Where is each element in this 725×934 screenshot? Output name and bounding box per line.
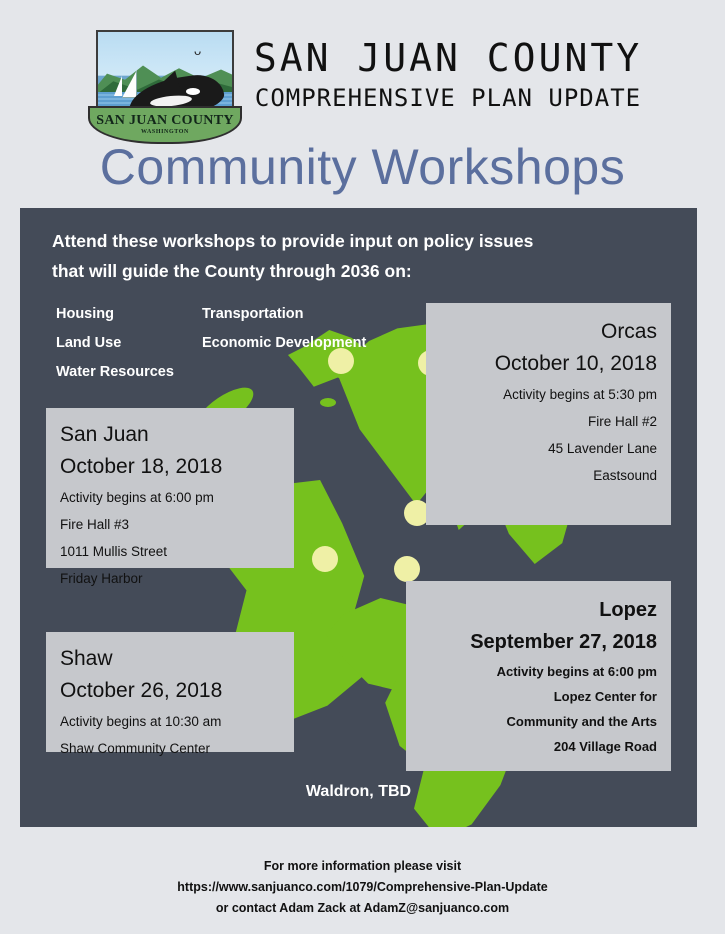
event-detail-time: Activity begins at 5:30 pm [440, 381, 657, 408]
event-detail-address: 204 Village Road [420, 734, 657, 759]
event-date-label: October 10, 2018 [440, 347, 657, 381]
event-date-label: October 18, 2018 [60, 450, 280, 484]
event-detail-venue: Fire Hall #3 [60, 511, 280, 538]
content-panel: Attend these workshops to provide input … [20, 208, 697, 827]
topic-land-use: Land Use [56, 329, 174, 358]
intro-line-1: Attend these workshops to provide input … [52, 226, 662, 256]
seal-banner-main-label: SAN JUAN COUNTY [96, 114, 234, 128]
event-detail-town: Eastsound [440, 462, 657, 489]
title-block: SAN JUAN COUNTY COMPREHENSIVE PLAN UPDAT… [248, 36, 648, 114]
seal-banner-sub-label: WASHINGTON [141, 128, 189, 136]
event-detail-address: 45 Lavender Lane [440, 435, 657, 462]
event-detail-venue: Fire Hall #2 [440, 408, 657, 435]
topic-housing: Housing [56, 300, 174, 329]
event-card-lopez: Lopez September 27, 2018 Activity begins… [406, 581, 671, 771]
map-islet-c [320, 398, 336, 407]
county-title: SAN JUAN COUNTY [248, 36, 648, 80]
intro-line-2: that will guide the County through 2036 … [52, 256, 662, 286]
event-card-san-juan: San Juan October 18, 2018 Activity begin… [46, 408, 294, 568]
topic-list-right: Transportation Economic Development [202, 300, 366, 358]
bird-icon: ᴗ [194, 46, 212, 56]
event-city-label: Orcas [440, 317, 657, 347]
event-date-label: September 27, 2018 [420, 625, 657, 659]
waldron-note: Waldron, TBD [20, 783, 697, 801]
event-city-label: Lopez [420, 595, 657, 625]
intro-text: Attend these workshops to provide input … [52, 226, 662, 286]
topic-transportation: Transportation [202, 300, 366, 329]
san-juan-county-seal-icon: ᴗ SAN JUAN COUNTY WASHINGTON [88, 30, 238, 142]
event-detail-time: Activity begins at 6:00 pm [60, 484, 280, 511]
event-detail-venue: Lopez Center for [420, 684, 657, 709]
event-city-label: San Juan [60, 420, 280, 450]
map-marker-san-juan [312, 546, 338, 572]
flyer-header: ᴗ SAN JUAN COUNTY WASHINGTON SAN JUAN CO… [0, 0, 725, 208]
footer-line-contact[interactable]: or contact Adam Zack at AdamZ@sanjuanco.… [0, 898, 725, 919]
event-detail-venue-cont: Community and the Arts [420, 709, 657, 734]
event-detail-time: Activity begins at 10:30 am [60, 708, 280, 735]
flyer-footer: For more information please visit https:… [0, 856, 725, 919]
footer-line-info: For more information please visit [0, 856, 725, 877]
topic-water-resources: Water Resources [56, 358, 174, 387]
topic-list-left: Housing Land Use Water Resources [56, 300, 174, 387]
sailboat-icon [114, 70, 138, 100]
map-marker-lopez [394, 556, 420, 582]
orca-eye-patch-shape [186, 88, 200, 95]
plan-subtitle: COMPREHENSIVE PLAN UPDATE [248, 82, 648, 114]
event-detail-town: Friday Harbor [60, 565, 280, 592]
event-city-label: Shaw [60, 644, 280, 674]
event-card-orcas: Orcas October 10, 2018 Activity begins a… [426, 303, 671, 525]
event-card-shaw: Shaw October 26, 2018 Activity begins at… [46, 632, 294, 752]
footer-line-url[interactable]: https://www.sanjuanco.com/1079/Comprehen… [0, 877, 725, 898]
event-detail-time: Activity begins at 6:00 pm [420, 659, 657, 684]
event-detail-address: 1011 Mullis Street [60, 538, 280, 565]
page-title: Community Workshops [0, 138, 725, 196]
event-date-label: October 26, 2018 [60, 674, 280, 708]
map-islet-b [296, 612, 314, 622]
topic-economic-development: Economic Development [202, 329, 366, 358]
event-detail-venue: Shaw Community Center [60, 735, 280, 762]
